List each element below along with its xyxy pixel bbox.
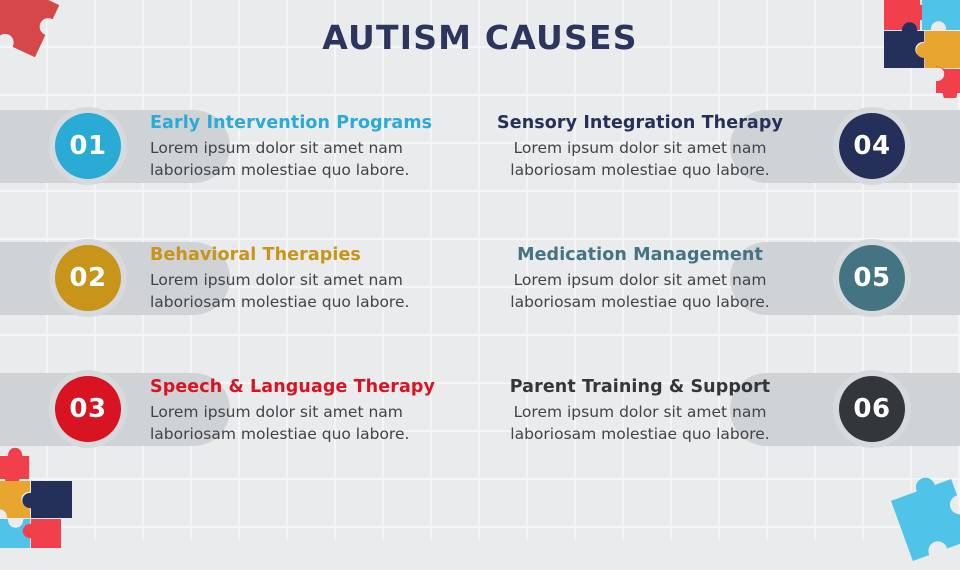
number-badge-02[interactable]: 02	[55, 245, 121, 311]
number-badge-06[interactable]: 06	[839, 376, 905, 442]
number-badge-label: 02	[69, 263, 106, 293]
puzzle-cluster-icon-bottom-left	[0, 438, 72, 548]
item-desc-02: Lorem ipsum dolor sit amet nam laboriosa…	[150, 270, 490, 313]
page-title: AUTISM CAUSES	[0, 18, 960, 57]
number-badge-01[interactable]: 01	[55, 113, 121, 179]
puzzle-piece-icon-bottom-right	[882, 470, 960, 570]
list-item-03[interactable]: Speech & Language Therapy Lorem ipsum do…	[150, 378, 490, 445]
item-desc-03: Lorem ipsum dolor sit amet nam laboriosa…	[150, 402, 490, 445]
item-desc-05: Lorem ipsum dolor sit amet nam laboriosa…	[470, 270, 810, 313]
item-desc-06: Lorem ipsum dolor sit amet nam laboriosa…	[470, 402, 810, 445]
item-title-04: Sensory Integration Therapy	[470, 114, 810, 133]
number-badge-label: 01	[69, 131, 106, 161]
number-badge-05[interactable]: 05	[839, 245, 905, 311]
item-title-03: Speech & Language Therapy	[150, 378, 490, 397]
item-title-05: Medication Management	[470, 246, 810, 265]
list-item-02[interactable]: Behavioral Therapies Lorem ipsum dolor s…	[150, 246, 490, 313]
item-title-01: Early Intervention Programs	[150, 114, 490, 133]
item-desc-01: Lorem ipsum dolor sit amet nam laboriosa…	[150, 138, 490, 181]
number-badge-label: 05	[853, 263, 890, 293]
list-item-04[interactable]: Sensory Integration Therapy Lorem ipsum …	[470, 114, 810, 181]
number-badge-label: 06	[853, 394, 890, 424]
item-desc-04: Lorem ipsum dolor sit amet nam laboriosa…	[470, 138, 810, 181]
number-badge-03[interactable]: 03	[55, 376, 121, 442]
item-title-02: Behavioral Therapies	[150, 246, 490, 265]
item-title-06: Parent Training & Support	[470, 378, 810, 397]
number-badge-04[interactable]: 04	[839, 113, 905, 179]
list-item-06[interactable]: Parent Training & Support Lorem ipsum do…	[470, 378, 810, 445]
list-item-05[interactable]: Medication Management Lorem ipsum dolor …	[470, 246, 810, 313]
number-badge-label: 04	[853, 131, 890, 161]
list-item-01[interactable]: Early Intervention Programs Lorem ipsum …	[150, 114, 490, 181]
number-badge-label: 03	[69, 394, 106, 424]
